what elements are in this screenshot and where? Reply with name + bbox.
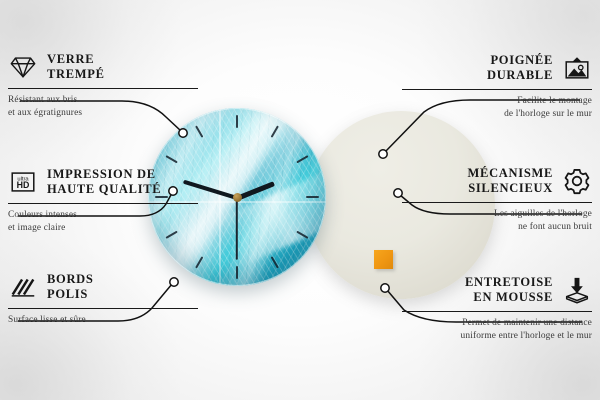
feature-description: Surface lisse et sûre <box>8 314 198 327</box>
product-infographic: VERRE TREMPÉ Résistant aux bris et aux é… <box>0 0 600 400</box>
feature-bords-polis: BORDS POLIS Surface lisse et sûre <box>8 272 198 327</box>
feature-header: ultra HD IMPRESSION DE HAUTE QUALITÉ <box>8 167 198 198</box>
feature-description: Permet de maintenir une distance uniform… <box>402 317 592 343</box>
ultra-hd-icon: ultra HD <box>8 167 38 197</box>
feature-header: MÉCANISME SILENCIEUX <box>402 166 592 197</box>
connector-dot-entretoise <box>381 284 389 292</box>
feature-divider <box>402 89 592 91</box>
feature-title: ENTRETOISE EN MOUSSE <box>465 275 553 306</box>
feature-description: Les aiguilles de l'horloge ne font aucun… <box>402 208 592 234</box>
feature-description: Facilite le montage de l'horloge sur le … <box>402 95 592 121</box>
feature-divider <box>402 202 592 204</box>
foam-spacer-icon <box>562 275 592 305</box>
feature-description: Couleurs intenses et image claire <box>8 209 198 235</box>
feature-mecanisme-silencieux: MÉCANISME SILENCIEUX Les aiguilles de l'… <box>402 166 592 234</box>
feature-poignee-durable: POIGNÉE DURABLE Facilite le montage de l… <box>402 53 592 121</box>
feature-divider <box>402 311 592 313</box>
feature-description: Résistant aux bris et aux égratignures <box>8 94 198 120</box>
feature-divider <box>8 88 198 90</box>
connector-dot-mecanisme <box>394 189 402 197</box>
feature-divider <box>8 308 198 310</box>
feature-header: VERRE TREMPÉ <box>8 52 198 83</box>
feature-verre-trempe: VERRE TREMPÉ Résistant aux bris et aux é… <box>8 52 198 120</box>
feature-entretoise-en-mousse: ENTRETOISE EN MOUSSE Permet de maintenir… <box>402 275 592 343</box>
feature-divider <box>8 203 198 205</box>
feature-header: BORDS POLIS <box>8 272 198 303</box>
picture-hanger-icon <box>562 53 592 83</box>
connector-dot-poignee <box>379 150 387 158</box>
svg-text:HD: HD <box>17 180 30 190</box>
feature-title: BORDS POLIS <box>47 272 94 303</box>
feature-header: POIGNÉE DURABLE <box>402 53 592 84</box>
gear-icon <box>562 166 592 196</box>
feature-title: IMPRESSION DE HAUTE QUALITÉ <box>47 167 161 198</box>
feature-impression-haute-qualite: ultra HD IMPRESSION DE HAUTE QUALITÉ Cou… <box>8 167 198 235</box>
connector-dot-verre <box>179 129 187 137</box>
feature-header: ENTRETOISE EN MOUSSE <box>402 275 592 306</box>
polished-edges-icon <box>8 272 38 302</box>
feature-title: MÉCANISME SILENCIEUX <box>468 166 553 197</box>
feature-title: VERRE TREMPÉ <box>47 52 105 83</box>
diamond-icon <box>8 52 38 82</box>
feature-title: POIGNÉE DURABLE <box>487 53 553 84</box>
